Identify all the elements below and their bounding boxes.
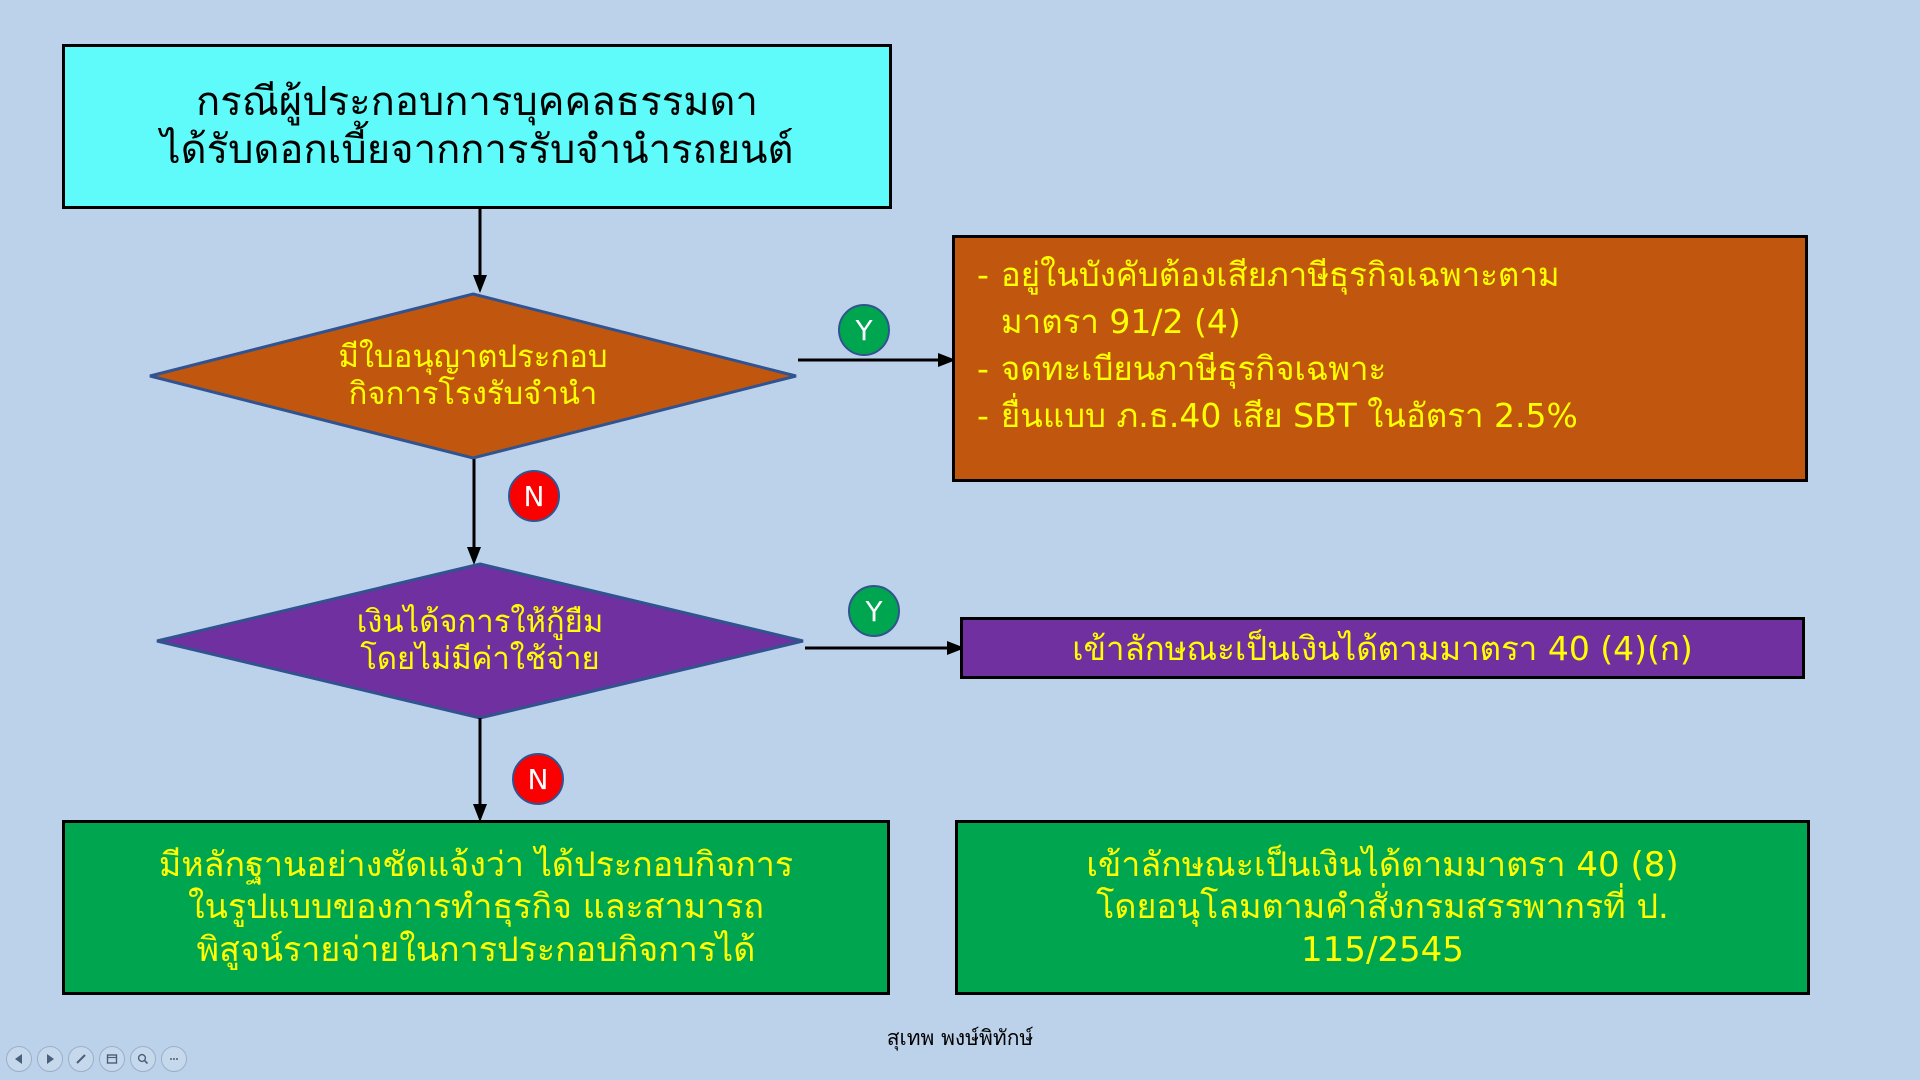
connector-loan-no: [470, 718, 490, 824]
start-box: กรณีผู้ประกอบการบุคคลธรรมดา ได้รับดอกเบี…: [62, 44, 892, 209]
more-options-icon[interactable]: [161, 1046, 187, 1072]
slide-canvas: กรณีผู้ประกอบการบุคคลธรรมดา ได้รับดอกเบี…: [0, 0, 1920, 1080]
connector-license-no: [464, 459, 484, 567]
income-40-4-label: เข้าลักษณะเป็นเงินได้ตามมาตรา 40 (4)(ก): [1072, 622, 1693, 675]
connector-start-to-license: [470, 209, 490, 295]
bullet-dash: -: [977, 346, 989, 393]
decision-loan-label: เงินได้จการให้กู้ยืม โดยไม่มีค่าใช้จ่าย: [357, 604, 604, 678]
sbt-bullet-row: - อยู่ในบังคับต้องเสียภาษีธุรกิจเฉพาะตาม…: [977, 252, 1785, 346]
author-credit: สุเทพ พงษ์พิทักษ์: [0, 1022, 1920, 1055]
green-evidence-box: มีหลักฐานอย่างชัดแจ้งว่า ได้ประกอบกิจการ…: [62, 820, 890, 995]
green-income-40-8-label: เข้าลักษณะเป็นเงินได้ตามมาตรา 40 (8) โดย…: [1086, 844, 1678, 972]
badge-no-loan: N: [512, 753, 564, 805]
bullet-dash: -: [977, 393, 989, 440]
bullet-dash: -: [977, 252, 989, 299]
sbt-result-box: - อยู่ในบังคับต้องเสียภาษีธุรกิจเฉพาะตาม…: [952, 235, 1808, 482]
sbt-bullet-1: อยู่ในบังคับต้องเสียภาษีธุรกิจเฉพาะตาม ม…: [1001, 252, 1560, 346]
zoom-icon[interactable]: [130, 1046, 156, 1072]
pen-icon[interactable]: [68, 1046, 94, 1072]
sbt-bullet-3: ยื่นแบบ ภ.ธ.40 เสีย SBT ในอัตรา 2.5%: [1001, 393, 1578, 440]
badge-label: N: [524, 480, 545, 513]
presentation-toolbar[interactable]: [6, 1046, 187, 1072]
play-icon[interactable]: [37, 1046, 63, 1072]
badge-label: Y: [865, 595, 882, 628]
badge-yes-license: Y: [838, 304, 890, 356]
decision-license-label: มีใบอนุญาตประกอบ กิจการโรงรับจำนำ: [338, 339, 607, 413]
badge-label: Y: [855, 314, 872, 347]
connector-license-yes: [798, 350, 958, 370]
sbt-bullet-2: จดทะเบียนภาษีธุรกิจเฉพาะ: [1001, 346, 1386, 393]
sbt-bullet-row: - ยื่นแบบ ภ.ธ.40 เสีย SBT ในอัตรา 2.5%: [977, 393, 1785, 440]
sbt-bullet-row: - จดทะเบียนภาษีธุรกิจเฉพาะ: [977, 346, 1785, 393]
connector-loan-yes: [805, 638, 967, 658]
income-40-4-box: เข้าลักษณะเป็นเงินได้ตามมาตรา 40 (4)(ก): [960, 617, 1805, 679]
slides-icon[interactable]: [99, 1046, 125, 1072]
badge-label: N: [528, 763, 549, 796]
green-income-40-8-box: เข้าลักษณะเป็นเงินได้ตามมาตรา 40 (8) โดย…: [955, 820, 1810, 995]
badge-no-license: N: [508, 470, 560, 522]
previous-icon[interactable]: [6, 1046, 32, 1072]
badge-yes-loan: Y: [848, 585, 900, 637]
decision-license-diamond: มีใบอนุญาตประกอบ กิจการโรงรับจำนำ: [148, 292, 798, 460]
decision-loan-diamond: เงินได้จการให้กู้ยืม โดยไม่มีค่าใช้จ่าย: [155, 562, 805, 720]
start-box-label: กรณีผู้ประกอบการบุคคลธรรมดา ได้รับดอกเบี…: [160, 79, 793, 173]
green-evidence-label: มีหลักฐานอย่างชัดแจ้งว่า ได้ประกอบกิจการ…: [159, 844, 793, 972]
